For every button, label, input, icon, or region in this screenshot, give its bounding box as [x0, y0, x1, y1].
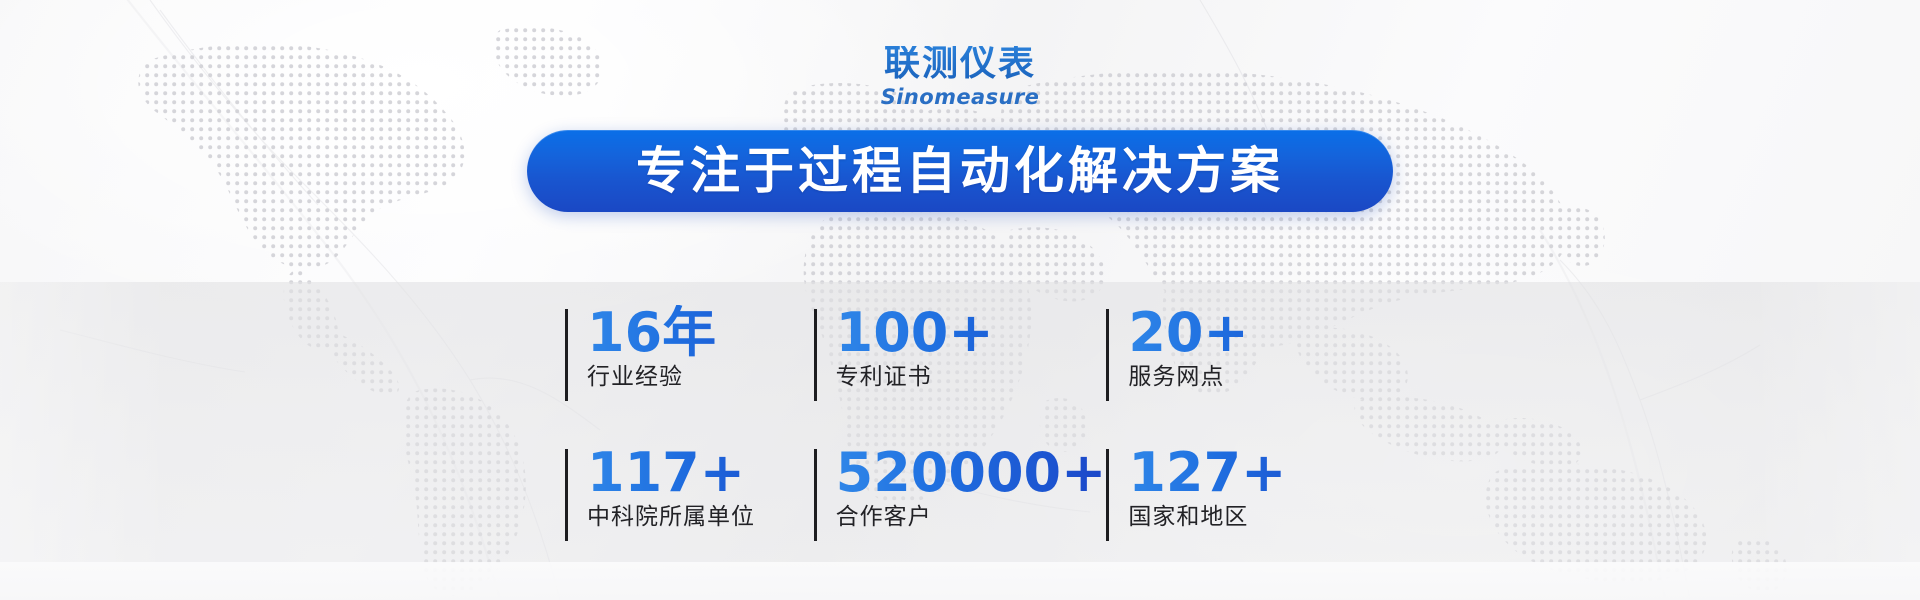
- stat-label: 服务网点: [1128, 364, 1355, 392]
- promo-banner: 联测仪表 Sinomeasure 专注于过程自动化解决方案 16年 行业经验 1…: [0, 0, 1920, 600]
- stat-rule-icon: [565, 309, 568, 401]
- stat-rule-icon: [814, 449, 817, 541]
- statistics-grid: 16年 行业经验 100+ 专利证书 20+ 服务网点 117+ 中科院所属单位: [565, 305, 1355, 557]
- stat-value: 20+: [1128, 305, 1355, 360]
- stat-service-outlets: 20+ 服务网点: [1106, 305, 1355, 417]
- stat-industry-experience: 16年 行业经验: [565, 305, 814, 417]
- logo-chinese-name: 联测仪表: [881, 46, 1039, 82]
- stat-label: 行业经验: [587, 364, 814, 392]
- stat-countries-and-regions: 127+ 国家和地区: [1106, 445, 1355, 557]
- headline-pill-button[interactable]: 专注于过程自动化解决方案: [527, 130, 1393, 212]
- stat-value: 16年: [587, 305, 814, 360]
- brand-logo[interactable]: 联测仪表 Sinomeasure: [881, 46, 1039, 108]
- stat-cooperative-customers: 520000+ 合作客户: [814, 445, 1107, 557]
- stat-patent-certificates: 100+ 专利证书: [814, 305, 1107, 417]
- stat-value: 520000+: [836, 445, 1107, 500]
- stat-label: 专利证书: [836, 364, 1107, 392]
- stat-label: 国家和地区: [1128, 504, 1355, 532]
- stat-label: 合作客户: [836, 504, 1107, 532]
- stat-rule-icon: [1106, 449, 1109, 541]
- stat-rule-icon: [565, 449, 568, 541]
- stat-rule-icon: [1106, 309, 1109, 401]
- headline-text: 专注于过程自动化解决方案: [636, 146, 1284, 196]
- stat-label: 中科院所属单位: [587, 504, 814, 532]
- stat-value: 100+: [836, 305, 1107, 360]
- banner-content: 联测仪表 Sinomeasure 专注于过程自动化解决方案 16年 行业经验 1…: [0, 0, 1920, 600]
- stat-value: 127+: [1128, 445, 1355, 500]
- stat-rule-icon: [814, 309, 817, 401]
- stat-value: 117+: [587, 445, 814, 500]
- stat-cas-affiliated-units: 117+ 中科院所属单位: [565, 445, 814, 557]
- logo-english-name: Sinomeasure: [881, 87, 1039, 108]
